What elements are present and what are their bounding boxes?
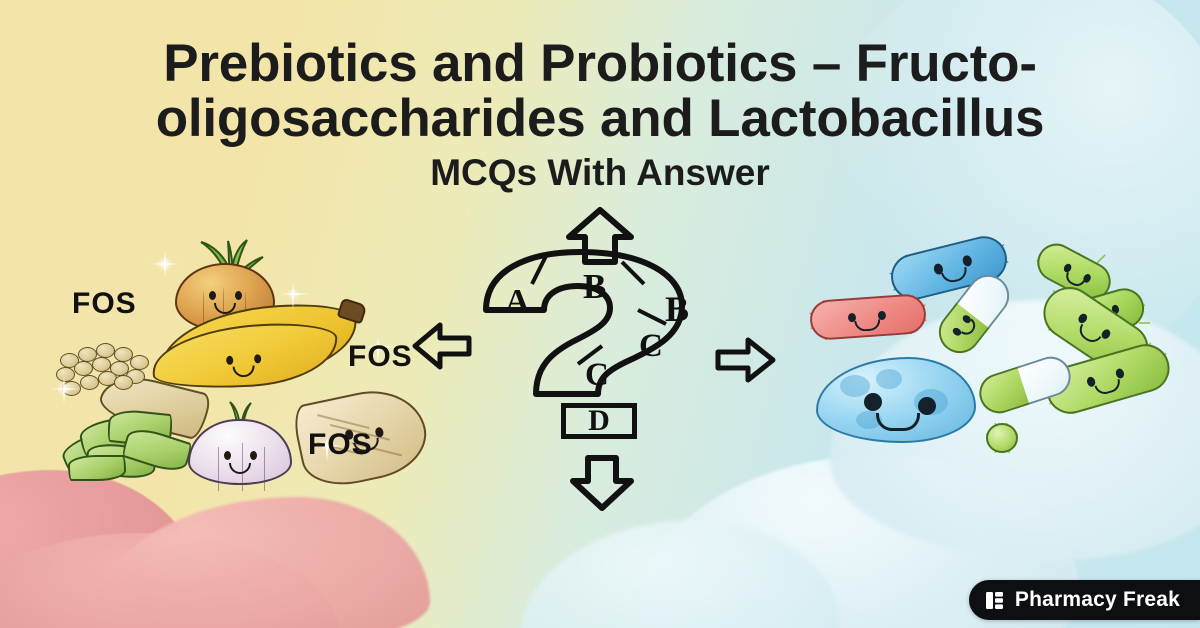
option-letter-d: D (566, 408, 632, 434)
page-subtitle: MCQs With Answer (0, 152, 1200, 194)
arrow-left-icon (412, 322, 472, 370)
microbe-body (809, 293, 928, 341)
pink-ciliated-bacterium (809, 293, 928, 341)
blue-amoeba (816, 357, 976, 443)
title-block: Prebiotics and Probiotics – Fructo-oligo… (0, 36, 1200, 194)
option-letter-c1: C (639, 328, 663, 365)
sparkle-icon (156, 255, 174, 273)
fos-label: FOS (72, 287, 137, 321)
sparkle-icon (56, 381, 72, 397)
watermark-badge[interactable]: Pharmacy Freak (969, 580, 1200, 620)
pharmacy-freak-logo-icon (985, 591, 1004, 610)
arrow-down-icon (570, 455, 634, 511)
garlic-body (188, 419, 292, 485)
watermark-brand: Pharmacy Freak (1015, 588, 1180, 612)
poster-canvas: Prebiotics and Probiotics – Fructo-oligo… (0, 0, 1200, 628)
option-letter-a: A (505, 283, 530, 321)
option-letter-c2: C (585, 357, 609, 394)
page-title: Prebiotics and Probiotics – Fructo-oligo… (0, 36, 1200, 146)
fos-label: FOS (308, 428, 373, 462)
option-letter-b1: B (583, 267, 606, 307)
green-coccus (986, 423, 1018, 453)
microbe-body (816, 357, 976, 443)
garlic-illustration (188, 405, 292, 485)
sparkle-icon (286, 287, 300, 301)
microbe-body (986, 423, 1018, 453)
probiotic-microbe-illustration (790, 245, 1190, 485)
option-d-box: D (561, 403, 637, 439)
artichoke-illustration (62, 411, 202, 483)
option-letter-b2: B (665, 288, 689, 330)
arrow-up-icon (565, 207, 635, 265)
fos-label: FOS (348, 340, 413, 374)
arrow-right-icon (714, 337, 776, 383)
